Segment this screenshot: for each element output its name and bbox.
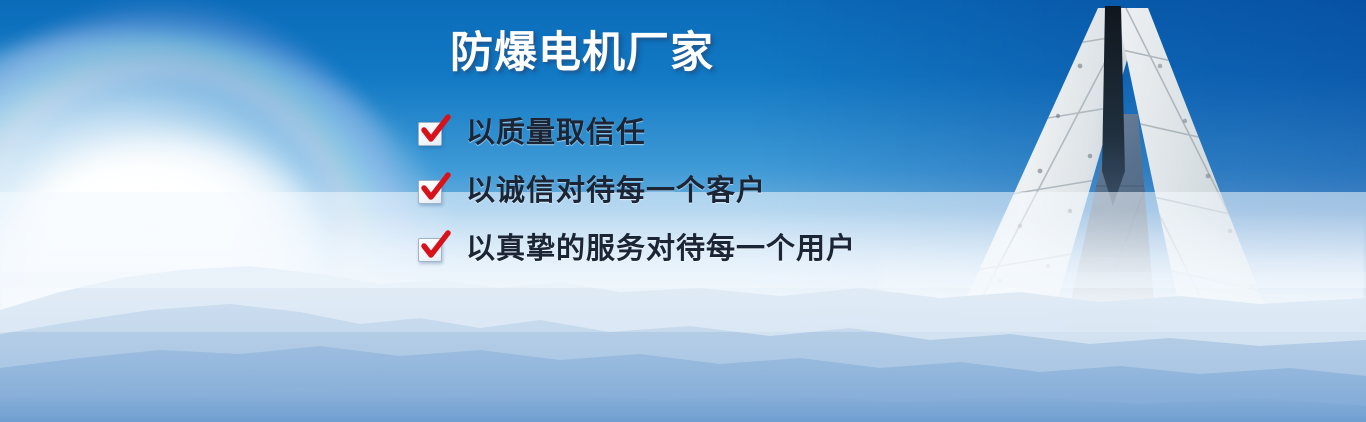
check-mark-icon: [419, 115, 450, 146]
check-box-icon: [418, 236, 444, 262]
list-item-label: 以质量取信任: [466, 116, 646, 150]
monument-center-slot: [1102, 6, 1125, 206]
feature-list: 以质量取信任 以诚信对待每一个客户 以真挚的服务对待每一个用户: [418, 104, 1038, 278]
list-item-label: 以真挚的服务对待每一个用户: [466, 232, 856, 266]
page-title: 防爆电机厂家: [450, 28, 714, 78]
list-item: 以真挚的服务对待每一个用户: [418, 220, 1038, 278]
check-box-icon: [418, 178, 444, 204]
check-box-icon: [418, 120, 444, 146]
list-item: 以诚信对待每一个客户: [418, 162, 1038, 220]
check-mark-icon: [419, 173, 450, 204]
promo-banner: 防爆电机厂家 以质量取信任 以诚信对待每一个客户: [0, 0, 1366, 422]
list-item: 以质量取信任: [418, 104, 1038, 162]
list-item-label: 以诚信对待每一个客户: [466, 174, 766, 208]
check-mark-icon: [419, 231, 450, 262]
